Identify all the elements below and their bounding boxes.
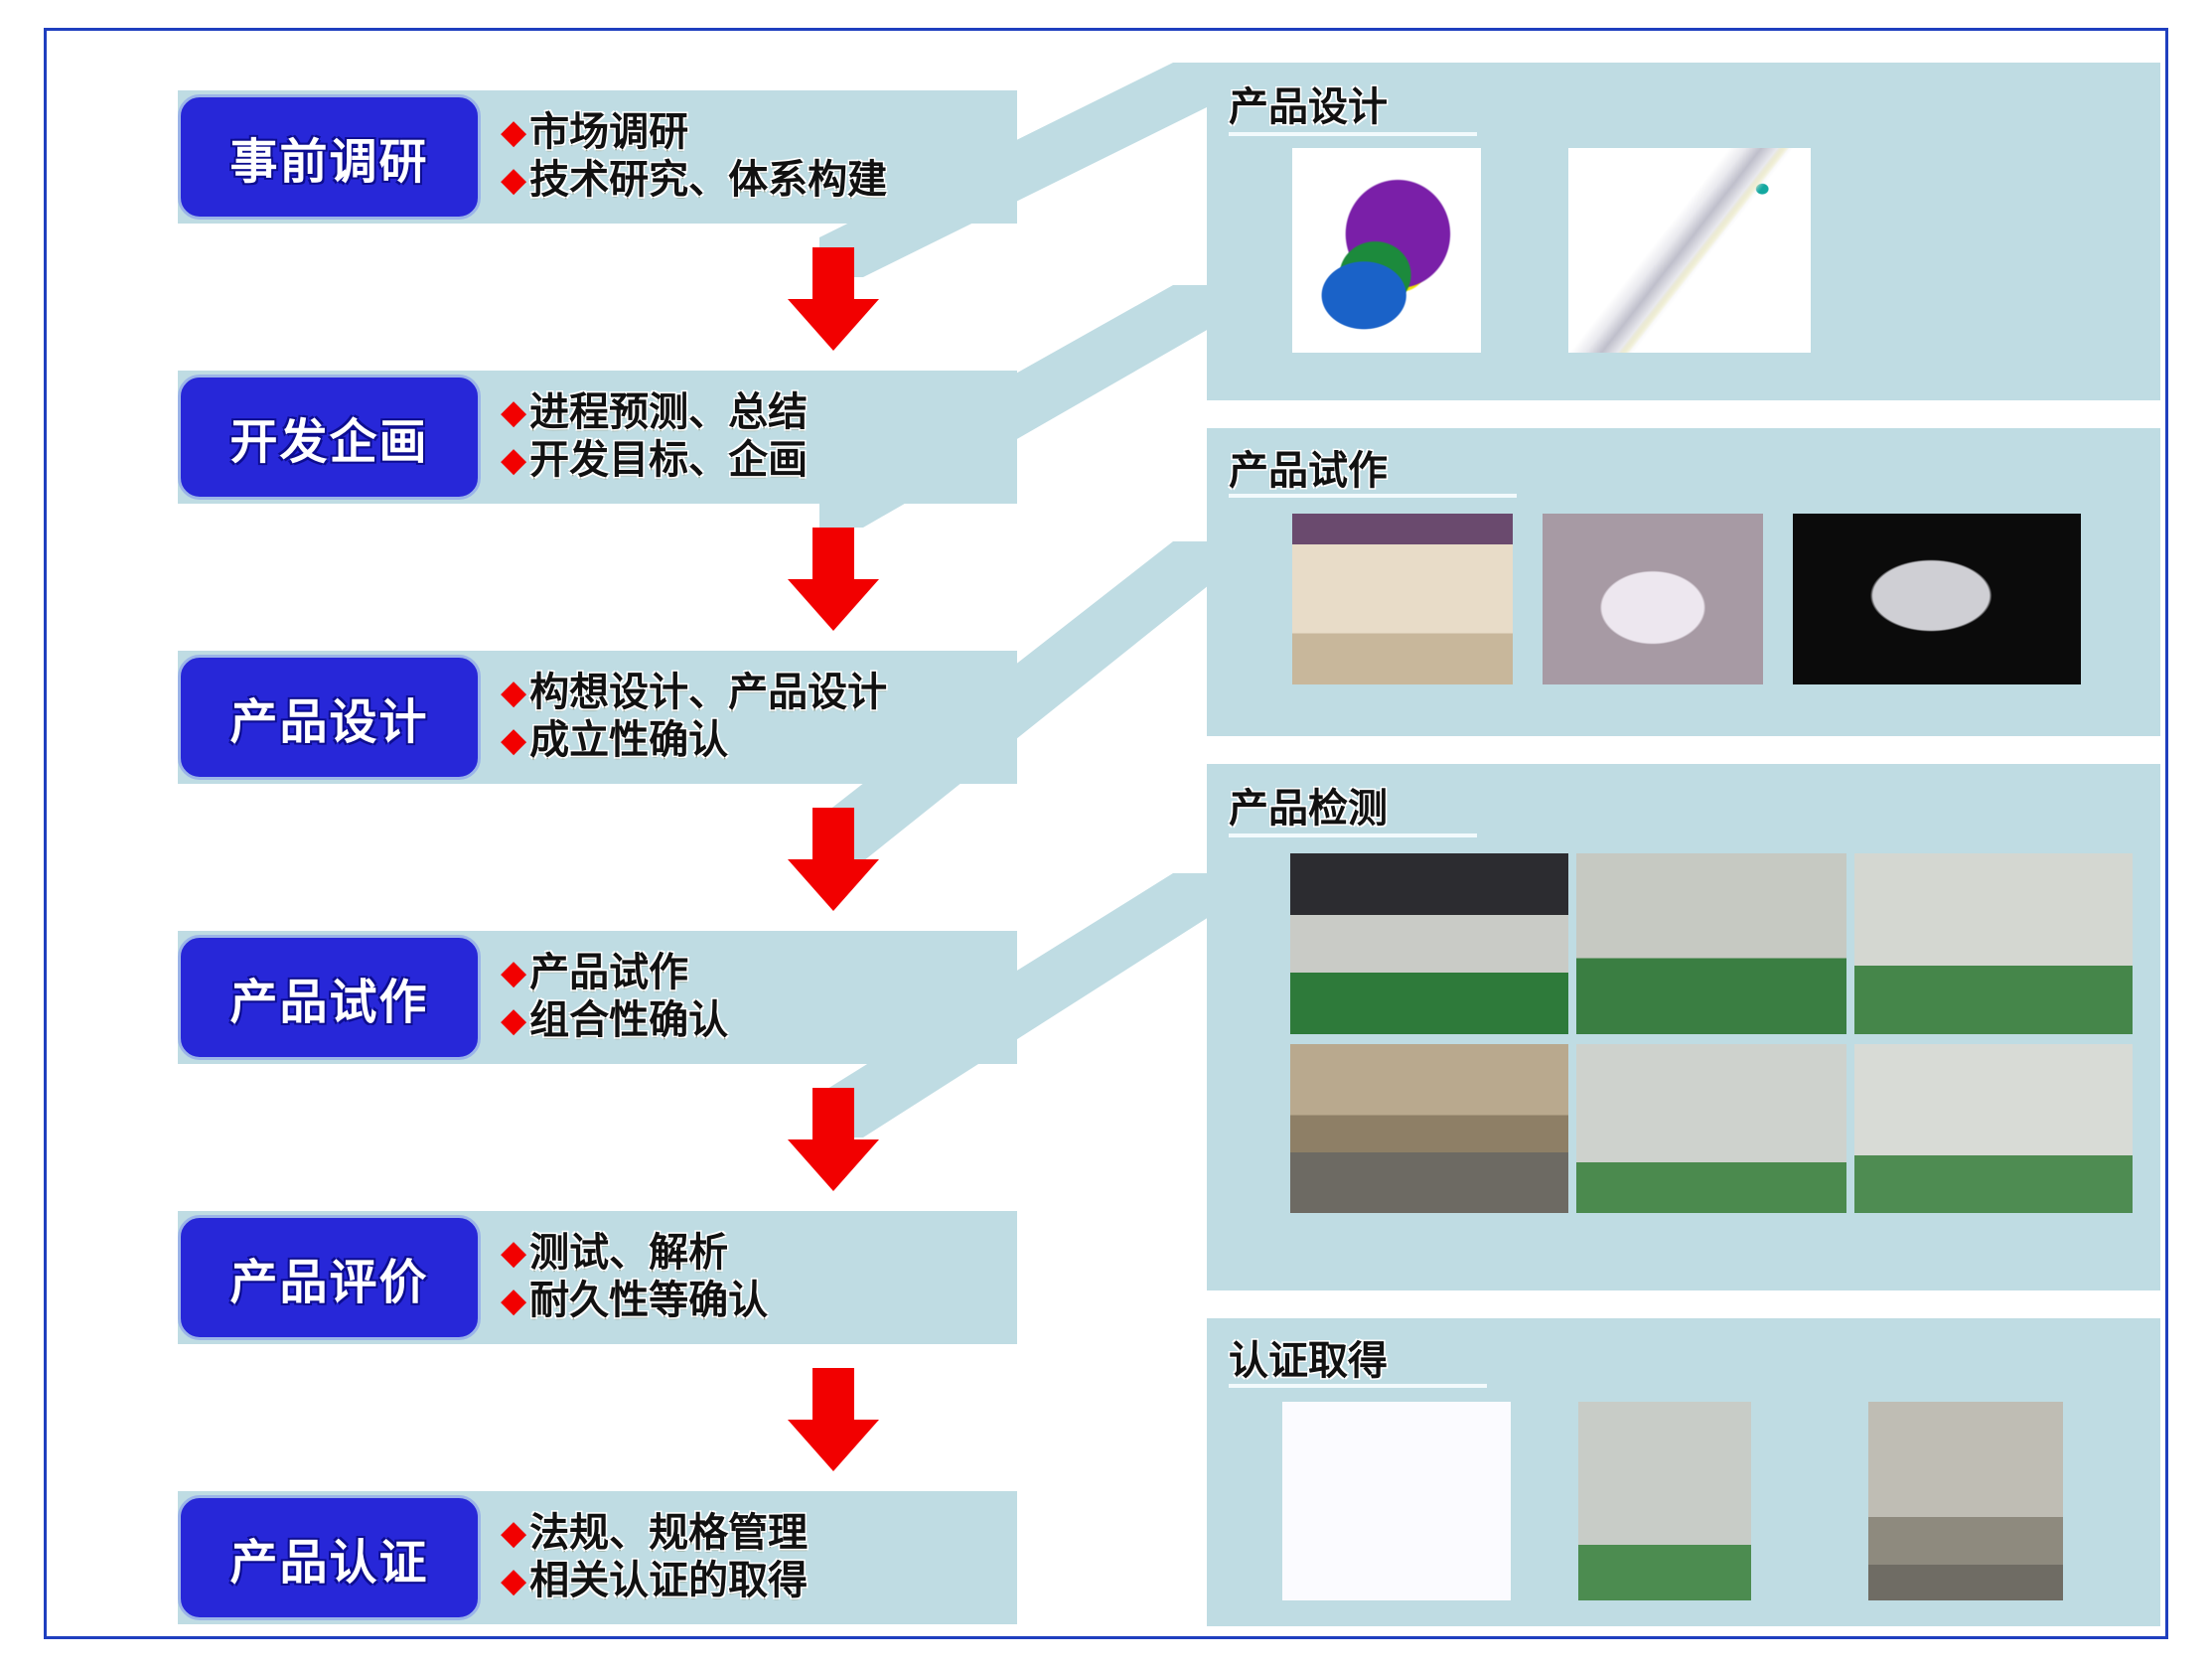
- flow-step-4[interactable]: 产品试作 ◆ 产品试作 ◆ 组合性确认: [178, 931, 1052, 1064]
- flow-step-3[interactable]: 产品设计 ◆ 构想设计、产品设计 ◆ 成立性确认: [178, 651, 1052, 784]
- bullet-text: 进程预测、总结: [529, 390, 808, 434]
- bullet-text: 开发目标、企画: [529, 438, 808, 482]
- step-chip-4[interactable]: 产品试作: [178, 935, 481, 1060]
- list-item: ◆ 市场调研: [501, 110, 1007, 154]
- panel-image-press-test-rig-photo: [1868, 1402, 2063, 1600]
- flow-step-6[interactable]: 产品认证 ◆ 法规、规格管理 ◆ 相关认证的取得: [178, 1491, 1052, 1624]
- bullet-text: 相关认证的取得: [529, 1559, 808, 1602]
- step-bullets: ◆ 进程预测、总结 ◆ 开发目标、企画: [501, 390, 1007, 486]
- bullet-text: 法规、规格管理: [529, 1511, 808, 1555]
- diamond-bullet-icon: ◆: [501, 1511, 526, 1555]
- diamond-bullet-icon: ◆: [501, 110, 526, 154]
- step-label: 产品试作: [229, 963, 428, 1032]
- step-chip-6[interactable]: 产品认证: [178, 1495, 481, 1620]
- panel-image-prototype-mask-with-tubing-photo: [1543, 514, 1763, 684]
- panel-title-underline: [1229, 833, 1477, 837]
- step-bullets: ◆ 测试、解析 ◆ 耐久性等确认: [501, 1231, 1007, 1326]
- list-item: ◆ 构想设计、产品设计: [501, 671, 1007, 714]
- diamond-bullet-icon: ◆: [501, 998, 526, 1042]
- panel-title: 产品设计: [1229, 75, 1388, 132]
- list-item: ◆ 耐久性等确认: [501, 1279, 1007, 1322]
- arrow-down-icon: [788, 808, 879, 911]
- bullet-text: 市场调研: [529, 110, 688, 154]
- list-item: ◆ 产品试作: [501, 951, 1007, 994]
- panel-product-prototype: 产品试作: [1207, 428, 2160, 736]
- panel-title: 认证取得: [1229, 1328, 1388, 1386]
- arrow-down-icon: [788, 528, 879, 631]
- diamond-bullet-icon: ◆: [501, 718, 526, 762]
- diamond-bullet-icon: ◆: [501, 390, 526, 434]
- bullet-text: 组合性确认: [529, 998, 728, 1042]
- bullet-text: 耐久性等确认: [529, 1279, 768, 1322]
- step-label: 产品设计: [229, 682, 428, 752]
- panel-image-certificate-documents-photo: [1282, 1402, 1511, 1600]
- diagram-canvas: 事前调研 ◆ 市场调研 ◆ 技术研究、体系构建: [0, 0, 2212, 1667]
- panel-title: 产品试作: [1229, 438, 1388, 496]
- panel-image-thermal-oven-photo: [1854, 1044, 2133, 1213]
- panel-certification: 认证取得: [1207, 1318, 2160, 1626]
- flow-step-5[interactable]: 产品评价 ◆ 测试、解析 ◆ 耐久性等确认: [178, 1211, 1052, 1344]
- list-item: ◆ 法规、规格管理: [501, 1511, 1007, 1555]
- diamond-bullet-icon: ◆: [501, 438, 526, 482]
- bullet-text: 测试、解析: [529, 1231, 728, 1275]
- panel-image-cad-mask-cutaway-render: [1292, 148, 1481, 353]
- arrow-down-icon: [788, 247, 879, 351]
- diamond-bullet-icon: ◆: [501, 951, 526, 994]
- step-chip-5[interactable]: 产品评价: [178, 1215, 481, 1340]
- bullet-text: 技术研究、体系构建: [529, 158, 887, 202]
- arrow-down-icon: [788, 1368, 879, 1471]
- list-item: ◆ 组合性确认: [501, 998, 1007, 1042]
- panel-title-underline: [1229, 494, 1517, 498]
- panel-image-test-machine-line-photo: [1576, 853, 1846, 1034]
- diamond-bullet-icon: ◆: [501, 1231, 526, 1275]
- bullet-text: 产品试作: [529, 951, 688, 994]
- step-chip-2[interactable]: 开发企画: [178, 375, 481, 500]
- panel-product-inspection: 产品检测: [1207, 764, 2160, 1290]
- step-label: 开发企画: [229, 402, 428, 472]
- list-item: ◆ 测试、解析: [501, 1231, 1007, 1275]
- flow-step-2[interactable]: 开发企画 ◆ 进程预测、总结 ◆ 开发目标、企画: [178, 371, 1052, 504]
- step-bullets: ◆ 市场调研 ◆ 技术研究、体系构建: [501, 110, 1007, 206]
- list-item: ◆ 成立性确认: [501, 718, 1007, 762]
- panel-image-prototype-transparent-mask-photo: [1793, 514, 2081, 684]
- bullet-text: 构想设计、产品设计: [529, 671, 887, 714]
- panel-title-underline: [1229, 132, 1477, 136]
- arrow-down-icon: [788, 1088, 879, 1191]
- panel-image-cad-valve-assembly-render: [1568, 148, 1811, 353]
- list-item: ◆ 技术研究、体系构建: [501, 158, 1007, 202]
- panel-image-test-chamber-rack-photo: [1854, 853, 2133, 1034]
- list-item: ◆ 相关认证的取得: [501, 1559, 1007, 1602]
- panel-product-design: 产品设计: [1207, 63, 2160, 400]
- panel-image-test-lab-bench-photo: [1290, 853, 1568, 1034]
- step-label: 事前调研: [229, 122, 428, 192]
- diamond-bullet-icon: ◆: [501, 1559, 526, 1602]
- step-chip-3[interactable]: 产品设计: [178, 655, 481, 780]
- panel-image-environmental-chamber-photo: [1576, 1044, 1846, 1213]
- list-item: ◆ 进程预测、总结: [501, 390, 1007, 434]
- diamond-bullet-icon: ◆: [501, 671, 526, 714]
- diamond-bullet-icon: ◆: [501, 1279, 526, 1322]
- step-bullets: ◆ 构想设计、产品设计 ◆ 成立性确认: [501, 671, 1007, 766]
- process-flow-column: 事前调研 ◆ 市场调研 ◆ 技术研究、体系构建: [178, 90, 1052, 1640]
- panel-image-prototype-mask-on-fixture-photo: [1292, 514, 1513, 684]
- panel-title: 产品检测: [1229, 776, 1388, 833]
- panel-image-electrical-test-bench-photo: [1290, 1044, 1568, 1213]
- step-label: 产品评价: [229, 1243, 428, 1312]
- list-item: ◆ 开发目标、企画: [501, 438, 1007, 482]
- step-chip-1[interactable]: 事前调研: [178, 94, 481, 220]
- bullet-text: 成立性确认: [529, 718, 728, 762]
- panel-image-universal-tester-cabinet-photo: [1578, 1402, 1751, 1600]
- step-bullets: ◆ 产品试作 ◆ 组合性确认: [501, 951, 1007, 1046]
- panel-title-underline: [1229, 1384, 1487, 1388]
- step-label: 产品认证: [229, 1523, 428, 1592]
- diamond-bullet-icon: ◆: [501, 158, 526, 202]
- flow-step-1[interactable]: 事前调研 ◆ 市场调研 ◆ 技术研究、体系构建: [178, 90, 1052, 224]
- step-bullets: ◆ 法规、规格管理 ◆ 相关认证的取得: [501, 1511, 1007, 1606]
- diagram-outer-frame: 事前调研 ◆ 市场调研 ◆ 技术研究、体系构建: [44, 28, 2168, 1639]
